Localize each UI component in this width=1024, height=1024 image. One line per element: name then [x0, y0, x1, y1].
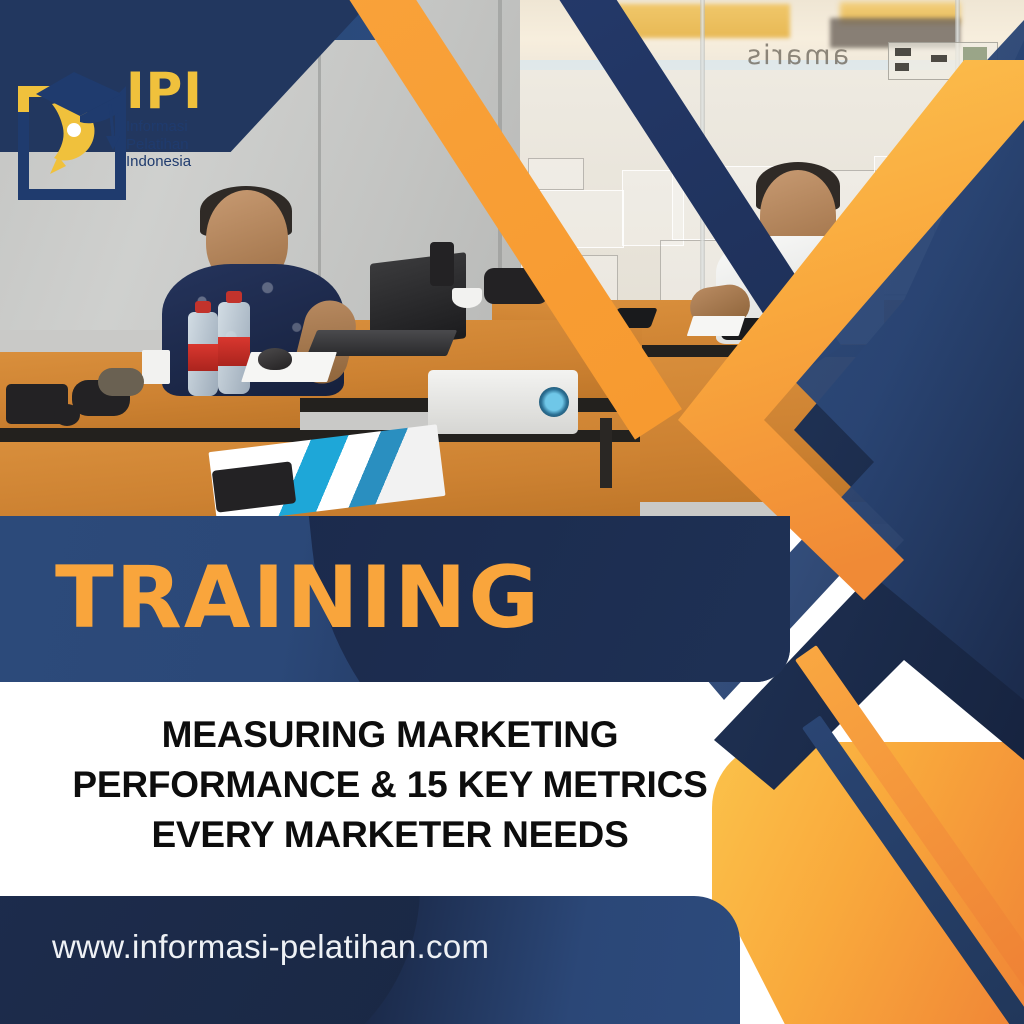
ipi-logo: IPI Informasi Pelatihan Indonesia — [14, 62, 226, 194]
graduation-cap-pen-icon — [14, 70, 126, 188]
photo-cup — [452, 288, 482, 308]
photo-wall-sign: amaris — [745, 40, 849, 71]
logo-text-block: IPI Informasi Pelatihan Indonesia — [126, 68, 203, 171]
logo-line-1: Informasi — [126, 118, 203, 136]
photo-projector — [428, 370, 578, 434]
headline-line-1: MEASURING MARKETING — [0, 710, 780, 760]
banner-title: TRAINING — [55, 550, 541, 646]
photo-mouse — [258, 348, 292, 370]
photo-table-leg-2 — [600, 418, 612, 488]
logo-line-3: Indonesia — [126, 153, 203, 171]
website-url[interactable]: www.informasi-pelatihan.com — [52, 928, 489, 966]
photo-paper-3 — [687, 316, 745, 336]
photo-case — [98, 368, 144, 396]
photo-wall-control-panel — [888, 42, 998, 80]
photo-camera-object — [430, 242, 454, 286]
headline-line-2: PERFORMANCE & 15 KEY METRICS — [0, 760, 780, 810]
logo-line-2: Pelatihan — [126, 136, 203, 154]
logo-initials: IPI — [126, 68, 203, 114]
photo-bottle-1 — [188, 312, 218, 396]
photo-paper-2 — [880, 348, 956, 376]
photo-pen — [908, 352, 916, 368]
photo-glass — [142, 350, 170, 384]
headline-line-3: EVERY MARKETER NEEDS — [0, 810, 780, 860]
headline-block: MEASURING MARKETING PERFORMANCE & 15 KEY… — [0, 710, 780, 860]
photo-keys — [54, 404, 80, 426]
training-poster: amaris — [0, 0, 1024, 1024]
photo-projector-lens — [539, 387, 569, 417]
